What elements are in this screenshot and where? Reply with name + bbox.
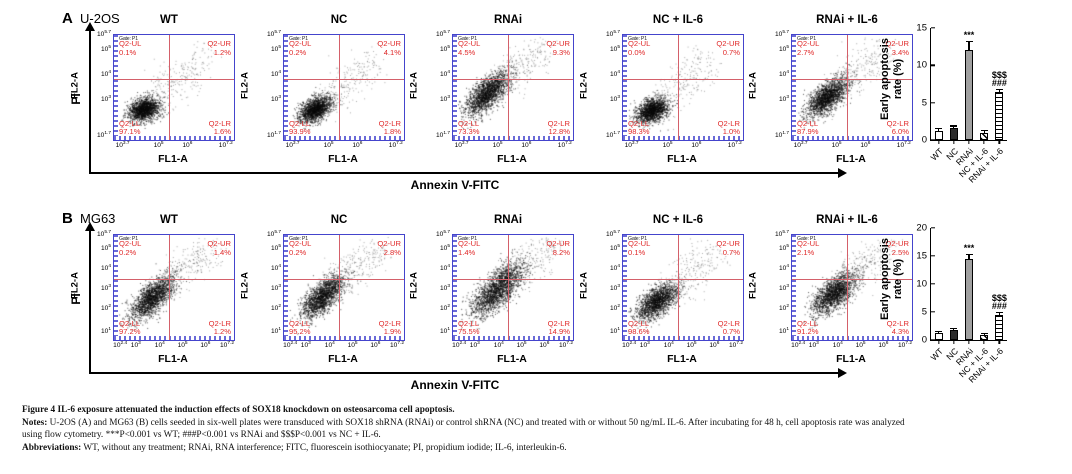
flow-x-tick: 103 — [131, 341, 141, 349]
flow-x-tick: 105 — [663, 141, 673, 149]
caption-abbreviations-line: Abbreviations: WT, without any treatment… — [22, 442, 1054, 455]
flow-plot-nc: NCFL2-AGate: P1Q2-UL0.2%Q2-UR4.1%Q2-LL93… — [235, 14, 409, 174]
quadrant-lr-value: 1.0% — [718, 128, 740, 137]
flow-y-tick: 102 — [243, 303, 281, 311]
bar-rnai-il-6 — [995, 315, 1003, 340]
error-bar — [968, 42, 969, 49]
quadrant-ll: Q2-LL97.2% — [119, 320, 141, 337]
flow-y-tick: 105.7 — [751, 30, 789, 38]
flow-x-tick: 105 — [348, 341, 358, 349]
flow-y-tick: 105 — [751, 244, 789, 252]
quadrant-ll: Q2-LL97.1% — [119, 120, 141, 137]
quadrant-vertical-line — [169, 35, 170, 140]
flow-y-tick: 104 — [582, 70, 620, 78]
bar-chart-y-tick: 20 — [916, 223, 931, 234]
flow-y-tick: 105 — [582, 45, 620, 53]
flow-y-tick: 105 — [243, 45, 281, 53]
flow-y-tick: 103 — [751, 283, 789, 291]
flow-y-tick: 103 — [582, 283, 620, 291]
error-bar-cap — [950, 125, 957, 126]
flow-plot-title: WT — [109, 214, 229, 226]
bar-chart-x-tickmark — [968, 140, 969, 144]
quadrant-horizontal-line — [453, 79, 573, 80]
flow-x-tick: 105 — [832, 141, 842, 149]
bar-nc-il-6 — [980, 133, 988, 140]
flow-y-tick: 101 — [751, 327, 789, 335]
quadrant-horizontal-line — [623, 79, 743, 80]
flow-cytometry-box: Gate: P1Q2-UL0.1%Q2-UR0.7%Q2-LL98.6%Q2-L… — [622, 234, 744, 341]
bar-chart-x-label: WT — [928, 346, 945, 363]
flow-y-tick: 105 — [412, 45, 450, 53]
error-bar — [953, 329, 954, 330]
flow-plot-wt: WTFL2-AGate: P1Q2-UL0.2%Q2-UR1.4%Q2-LL97… — [65, 214, 239, 374]
quadrant-ll: Q2-LL93.9% — [289, 120, 311, 137]
flow-x-tick: 107.2 — [220, 341, 234, 349]
quadrant-ll: Q2-LL75.5% — [458, 320, 480, 337]
flow-y-tick: 101.7 — [751, 131, 789, 139]
quadrant-ul: Q2-UL0.1% — [628, 240, 650, 257]
bar-nc — [950, 128, 958, 140]
quadrant-vertical-line — [678, 35, 679, 140]
flow-x-tick: 107.2 — [389, 141, 403, 149]
quadrant-ur-value: 1.2% — [207, 49, 231, 58]
flow-y-tick: 104 — [751, 70, 789, 78]
quadrant-ul-value: 4.5% — [458, 49, 480, 58]
flow-plot-title: NC — [279, 14, 399, 26]
flow-plot-title: RNAi — [448, 14, 568, 26]
bar-chart-plot-area: 05101520WTNC***RNAiNC + IL-6$$$###RNAi +… — [930, 228, 1007, 341]
figure-4: AU-2OSPIAnnexin V-FITCWTFL2-AGate: P1Q2-… — [0, 0, 1072, 474]
flow-y-tick: 105.7 — [243, 230, 281, 238]
flow-y-tick: 103 — [243, 95, 281, 103]
bar-nc — [950, 330, 958, 340]
quadrant-ur-value: 4.1% — [377, 49, 401, 58]
quadrant-lr-value: 14.9% — [548, 328, 570, 337]
flow-y-tick: 103 — [243, 283, 281, 291]
flow-y-tick: 104 — [243, 264, 281, 272]
caption-notes-line-1: Notes: U-2OS (A) and MG63 (B) cells seed… — [22, 417, 1054, 430]
caption-abbreviations-label: Abbreviations: — [22, 443, 81, 453]
quadrant-vertical-line — [339, 235, 340, 340]
flow-x-tick: 107.2 — [729, 341, 743, 349]
flow-x-tick: 106 — [539, 341, 549, 349]
quadrant-ur-value: 9.3% — [546, 49, 570, 58]
quadrant-ll: Q2-LL98.3% — [628, 120, 650, 137]
flow-x-tick: 105 — [178, 341, 188, 349]
bar-chart-x-tickmark — [953, 140, 954, 144]
flow-y-tick: 102 — [751, 303, 789, 311]
flow-y-tick: 103 — [582, 95, 620, 103]
flow-x-axis-label: FL1-A — [113, 353, 233, 365]
quadrant-ur: Q2-UR0.7% — [716, 40, 740, 57]
error-bar-cap — [935, 128, 942, 129]
flow-x-tick: 102.4 — [113, 341, 127, 349]
quadrant-ur-value: 0.7% — [716, 249, 740, 258]
quadrant-ll-value: 98.3% — [628, 128, 650, 137]
flow-y-tick: 105.7 — [243, 30, 281, 38]
bar-chart: Early apoptosisrate (%)05101520WTNC***RN… — [870, 204, 1070, 404]
flow-plot-area: Gate: P1Q2-UL0.2%Q2-UR4.1%Q2-LL93.9%Q2-L… — [284, 35, 404, 140]
bar-rnai-il-6 — [995, 92, 1003, 140]
flow-x-tick: 104 — [833, 341, 843, 349]
flow-y-tick: 105 — [73, 244, 111, 252]
panel-b: BMG63PIAnnexin V-FITCWTFL2-AGate: P1Q2-U… — [0, 204, 1072, 404]
quadrant-ul-value: 0.2% — [119, 249, 141, 258]
bar-chart: Early apoptosisrate (%)051015WTNC***RNAi… — [870, 4, 1070, 204]
flow-y-tick: 105.7 — [582, 230, 620, 238]
quadrant-ul-value: 2.7% — [797, 49, 819, 58]
bar-chart-x-tickmark — [999, 140, 1000, 144]
bar-chart-y-tick: 15 — [916, 23, 931, 34]
caption-abbreviations-text: WT, without any treatment; RNAi, RNA int… — [81, 443, 566, 453]
quadrant-ur-value: 2.8% — [377, 249, 401, 258]
bar-chart-x-tickmark — [984, 340, 985, 344]
quadrant-ur: Q2-UR8.2% — [546, 240, 570, 257]
flow-cytometry-box: Gate: P1Q2-UL0.2%Q2-UR4.1%Q2-LL93.9%Q2-L… — [283, 34, 405, 141]
bar-chart-y-tick: 10 — [916, 60, 931, 71]
flow-x-tick: 107.2 — [390, 341, 404, 349]
flow-y-tick: 104 — [73, 70, 111, 78]
caption-notes-text-1: U-2OS (A) and MG63 (B) cells seeded in s… — [47, 418, 904, 428]
annexin-axis-label: Annexin V-FITC — [0, 178, 910, 192]
flow-y-tick: 104 — [412, 264, 450, 272]
flow-x-tick: 105 — [154, 141, 164, 149]
quadrant-vertical-line — [508, 35, 509, 140]
quadrant-horizontal-line — [623, 279, 743, 280]
flow-x-tick: 107.2 — [559, 341, 573, 349]
quadrant-ul: Q2-UL0.2% — [289, 240, 311, 257]
error-bar-cap — [935, 331, 942, 332]
flow-plot-area: Gate: P1Q2-UL0.1%Q2-UR1.2%Q2-LL97.1%Q2-L… — [114, 35, 234, 140]
flow-x-tick: 106 — [691, 141, 701, 149]
quadrant-ul: Q2-UL4.5% — [458, 40, 480, 57]
flow-y-tick: 105.7 — [751, 230, 789, 238]
bar-chart-x-tickmark — [938, 140, 939, 144]
flow-plot-title: NC + IL-6 — [618, 14, 738, 26]
flow-y-tick: 103 — [412, 283, 450, 291]
error-bar-cap — [950, 328, 957, 329]
flow-x-tick: 105 — [687, 341, 697, 349]
quadrant-lr: Q2-LR1.0% — [718, 120, 740, 137]
flow-y-tick: 105.7 — [582, 30, 620, 38]
flow-x-tick: 106 — [370, 341, 380, 349]
significance-marker: $$$### — [992, 71, 1007, 87]
flow-x-tick: 102.4 — [452, 341, 466, 349]
quadrant-vertical-line — [339, 35, 340, 140]
quadrant-ll-value: 87.9% — [797, 128, 819, 137]
quadrant-ll: Q2-LL91.2% — [797, 320, 819, 337]
caption-title-line: Figure 4 IL-6 exposure attenuated the in… — [22, 404, 1054, 417]
quadrant-ur: Q2-UR9.3% — [546, 40, 570, 57]
quadrant-ur-value: 8.2% — [546, 249, 570, 258]
bar-chart-x-tickmark — [953, 340, 954, 344]
flow-x-tick: 103 — [809, 341, 819, 349]
flow-y-tick: 103 — [73, 95, 111, 103]
flow-x-tick: 104 — [155, 341, 165, 349]
flow-x-tick: 102.4 — [791, 341, 805, 349]
bar-chart-y-tickmark — [931, 311, 935, 312]
flow-plot-rnai: RNAiFL2-AGate: P1Q2-UL4.5%Q2-UR9.3%Q2-LL… — [404, 14, 578, 174]
quadrant-ur: Q2-UR0.7% — [716, 240, 740, 257]
quadrant-ur-value: 1.4% — [207, 249, 231, 258]
quadrant-ul: Q2-UL2.1% — [797, 240, 819, 257]
caption-notes-line-2: using flow cytometry. ***P<0.001 vs WT; … — [22, 429, 1054, 442]
bar-chart-y-tick: 15 — [916, 251, 931, 262]
flow-x-tick: 102.4 — [283, 341, 297, 349]
quadrant-lr-value: 1.8% — [379, 128, 401, 137]
flow-cytometry-box: Gate: P1Q2-UL0.1%Q2-UR1.2%Q2-LL97.1%Q2-L… — [113, 34, 235, 141]
flow-y-tick: 101 — [412, 327, 450, 335]
bar-chart-x-tickmark — [984, 140, 985, 144]
flow-x-tick: 104 — [325, 341, 335, 349]
error-bar — [999, 90, 1000, 92]
flow-plot-title: RNAi — [448, 214, 568, 226]
quadrant-lr: Q2-LR14.9% — [548, 320, 570, 337]
bar-chart-y-tick: 5 — [922, 97, 931, 108]
quadrant-ll-value: 95.2% — [289, 328, 311, 337]
error-bar — [984, 334, 985, 335]
flow-x-tick: 106 — [521, 141, 531, 149]
error-bar-cap — [966, 254, 973, 255]
flow-x-tick: 106 — [860, 141, 870, 149]
flow-x-tick: 103.7 — [794, 141, 808, 149]
bar-chart-y-axis-label: Early apoptosisrate (%) — [879, 24, 905, 134]
significance-marker: *** — [964, 31, 975, 39]
quadrant-ul-value: 0.1% — [119, 49, 141, 58]
flow-y-tick: 104 — [751, 264, 789, 272]
flow-y-tick: 101 — [73, 327, 111, 335]
flow-y-tick: 104 — [243, 70, 281, 78]
bar-chart-y-tick: 0 — [922, 335, 931, 346]
flow-plot-area: Gate: P1Q2-UL0.2%Q2-UR2.8%Q2-LL95.2%Q2-L… — [284, 235, 404, 340]
error-bar-cap — [966, 41, 973, 42]
flow-plot-nc-il-6: NC + IL-6FL2-AGate: P1Q2-UL0.1%Q2-UR0.7%… — [574, 214, 748, 374]
flow-x-tick: 104 — [664, 341, 674, 349]
bar-rnai — [965, 50, 973, 140]
flow-y-tick: 101.7 — [243, 131, 281, 139]
quadrant-lr-value: 1.6% — [209, 128, 231, 137]
quadrant-horizontal-line — [284, 79, 404, 80]
quadrant-ul-value: 1.4% — [458, 249, 480, 258]
flow-plot-wt: WTFL2-AGate: P1Q2-UL0.1%Q2-UR1.2%Q2-LL97… — [65, 14, 239, 174]
bar-chart-x-tickmark — [938, 340, 939, 344]
flow-y-tick: 102 — [73, 303, 111, 311]
flow-x-axis-label: FL1-A — [283, 353, 403, 365]
flow-y-tick: 105 — [582, 244, 620, 252]
quadrant-lr-value: 1.2% — [209, 328, 231, 337]
flow-y-tick: 105.7 — [73, 230, 111, 238]
flow-cytometry-box: Gate: P1Q2-UL0.0%Q2-UR0.7%Q2-LL98.3%Q2-L… — [622, 34, 744, 141]
flow-x-tick: 103 — [470, 341, 480, 349]
flow-plot-rnai: RNAiFL2-AGate: P1Q2-UL1.4%Q2-UR8.2%Q2-LL… — [404, 214, 578, 374]
bar-chart-y-tickmark — [931, 65, 935, 66]
significance-marker: $$$### — [992, 294, 1007, 310]
flow-plot-nc: NCFL2-AGate: P1Q2-UL0.2%Q2-UR2.8%Q2-LL95… — [235, 214, 409, 374]
quadrant-vertical-line — [508, 235, 509, 340]
quadrant-vertical-line — [169, 235, 170, 340]
quadrant-ul: Q2-UL0.1% — [119, 40, 141, 57]
quadrant-ul: Q2-UL1.4% — [458, 240, 480, 257]
flow-y-tick: 105.7 — [73, 30, 111, 38]
quadrant-lr: Q2-LR12.8% — [548, 120, 570, 137]
flow-cytometry-box: Gate: P1Q2-UL4.5%Q2-UR9.3%Q2-LL73.3%Q2-L… — [452, 34, 574, 141]
bar-chart-x-label: WT — [928, 146, 945, 163]
quadrant-horizontal-line — [453, 279, 573, 280]
quadrant-vertical-line — [847, 35, 848, 140]
flow-y-tick: 101.7 — [73, 131, 111, 139]
quadrant-lr: Q2-LR1.6% — [209, 120, 231, 137]
figure-caption: Figure 4 IL-6 exposure attenuated the in… — [22, 404, 1054, 454]
error-bar — [938, 129, 939, 131]
flow-cytometry-box: Gate: P1Q2-UL0.2%Q2-UR2.8%Q2-LL95.2%Q2-L… — [283, 234, 405, 341]
quadrant-lr: Q2-LR1.8% — [379, 120, 401, 137]
error-bar — [953, 127, 954, 128]
flow-plot-title: WT — [109, 14, 229, 26]
quadrant-ur: Q2-UR1.2% — [207, 40, 231, 57]
error-bar-cap — [996, 89, 1003, 90]
error-bar-cap — [981, 130, 988, 131]
quadrant-ur: Q2-UR4.1% — [377, 40, 401, 57]
flow-y-tick: 105 — [751, 45, 789, 53]
quadrant-ll-value: 73.3% — [458, 128, 480, 137]
bar-chart-y-tick: 0 — [922, 135, 931, 146]
significance-marker: *** — [964, 244, 975, 252]
flow-x-tick: 106 — [182, 141, 192, 149]
flow-y-tick: 104 — [73, 264, 111, 272]
flow-x-tick: 103.7 — [625, 141, 639, 149]
flow-y-tick: 103 — [751, 95, 789, 103]
flow-x-tick: 103.7 — [116, 141, 130, 149]
quadrant-lr-value: 1.9% — [379, 328, 401, 337]
quadrant-ul: Q2-UL0.2% — [119, 240, 141, 257]
flow-x-axis-label: FL1-A — [452, 153, 572, 165]
flow-plot-title: NC — [279, 214, 399, 226]
quadrant-ll: Q2-LL87.9% — [797, 120, 819, 137]
flow-x-tick: 106 — [709, 341, 719, 349]
quadrant-ll-value: 97.2% — [119, 328, 141, 337]
error-bar — [999, 313, 1000, 315]
error-bar — [938, 332, 939, 333]
quadrant-horizontal-line — [114, 79, 234, 80]
flow-x-tick: 103.7 — [286, 141, 300, 149]
caption-notes-label: Notes: — [22, 418, 47, 428]
quadrant-ul: Q2-UL0.0% — [628, 40, 650, 57]
flow-x-tick: 103.7 — [455, 141, 469, 149]
flow-plot-title: NC + IL-6 — [618, 214, 738, 226]
flow-plot-nc-il-6: NC + IL-6FL2-AGate: P1Q2-UL0.0%Q2-UR0.7%… — [574, 14, 748, 174]
flow-x-tick: 107.2 — [728, 141, 742, 149]
caption-title-text: IL-6 exposure attenuated the induction e… — [55, 405, 454, 415]
quadrant-ur: Q2-UR1.4% — [207, 240, 231, 257]
quadrant-ul-value: 2.1% — [797, 249, 819, 258]
flow-x-tick: 107.2 — [219, 141, 233, 149]
flow-y-tick: 104 — [582, 264, 620, 272]
bar-chart-y-tickmark — [931, 102, 935, 103]
quadrant-ul: Q2-UL2.7% — [797, 40, 819, 57]
quadrant-lr: Q2-LR1.9% — [379, 320, 401, 337]
error-bar — [968, 255, 969, 259]
flow-x-tick: 105 — [517, 341, 527, 349]
bar-chart-y-tickmark — [931, 227, 935, 228]
annexin-axis-label: Annexin V-FITC — [0, 378, 910, 392]
bar-wt — [935, 333, 943, 340]
flow-y-tick: 105.7 — [412, 30, 450, 38]
flow-cytometry-box: Gate: P1Q2-UL1.4%Q2-UR8.2%Q2-LL75.5%Q2-L… — [452, 234, 574, 341]
quadrant-horizontal-line — [114, 279, 234, 280]
bar-wt — [935, 131, 943, 140]
flow-x-tick: 102.4 — [622, 341, 636, 349]
bar-chart-y-tickmark — [931, 283, 935, 284]
quadrant-ll-value: 97.1% — [119, 128, 141, 137]
flow-y-tick: 101.7 — [412, 131, 450, 139]
flow-x-tick: 104 — [494, 341, 504, 349]
flow-plot-area: Gate: P1Q2-UL1.4%Q2-UR8.2%Q2-LL75.5%Q2-L… — [453, 235, 573, 340]
bar-rnai — [965, 259, 973, 340]
quadrant-ul-value: 0.1% — [628, 249, 650, 258]
flow-x-tick: 105 — [856, 341, 866, 349]
flow-x-axis-label: FL1-A — [622, 353, 742, 365]
flow-y-tick: 105 — [243, 244, 281, 252]
flow-x-tick: 103 — [301, 341, 311, 349]
quadrant-ul-value: 0.0% — [628, 49, 650, 58]
flow-y-tick: 102 — [412, 303, 450, 311]
quadrant-ur-value: 0.7% — [716, 49, 740, 58]
quadrant-ll: Q2-LL98.6% — [628, 320, 650, 337]
flow-plot-area: Gate: P1Q2-UL0.1%Q2-UR0.7%Q2-LL98.6%Q2-L… — [623, 235, 743, 340]
flow-x-tick: 107.2 — [558, 141, 572, 149]
flow-y-tick: 101 — [582, 327, 620, 335]
flow-y-tick: 105 — [412, 244, 450, 252]
flow-x-axis-label: FL1-A — [283, 153, 403, 165]
bar-chart-x-tickmark — [999, 340, 1000, 344]
error-bar-cap — [996, 312, 1003, 313]
bar-chart-y-axis-label: Early apoptosisrate (%) — [879, 224, 905, 334]
error-bar — [984, 131, 985, 132]
quadrant-ll-value: 91.2% — [797, 328, 819, 337]
flow-plot-area: Gate: P1Q2-UL0.0%Q2-UR0.7%Q2-LL98.3%Q2-L… — [623, 35, 743, 140]
quadrant-lr-value: 12.8% — [548, 128, 570, 137]
flow-y-tick: 103 — [412, 95, 450, 103]
quadrant-vertical-line — [678, 235, 679, 340]
quadrant-ll-value: 98.6% — [628, 328, 650, 337]
bar-chart-x-tickmark — [968, 340, 969, 344]
flow-plot-area: Gate: P1Q2-UL4.5%Q2-UR9.3%Q2-LL73.3%Q2-L… — [453, 35, 573, 140]
quadrant-ll-value: 93.9% — [289, 128, 311, 137]
flow-plot-area: Gate: P1Q2-UL0.2%Q2-UR1.4%Q2-LL97.2%Q2-L… — [114, 235, 234, 340]
flow-y-tick: 102 — [582, 303, 620, 311]
quadrant-lr: Q2-LR0.7% — [718, 320, 740, 337]
caption-figure-number: Figure 4 — [22, 405, 55, 415]
error-bar-cap — [981, 333, 988, 334]
caption-notes-text-2: using flow cytometry. ***P<0.001 vs WT; … — [22, 430, 381, 440]
quadrant-ul-value: 0.2% — [289, 249, 311, 258]
flow-y-tick: 101 — [243, 327, 281, 335]
quadrant-ll: Q2-LL95.2% — [289, 320, 311, 337]
flow-y-tick: 105.7 — [412, 230, 450, 238]
quadrant-lr: Q2-LR1.2% — [209, 320, 231, 337]
flow-x-tick: 105 — [324, 141, 334, 149]
quadrant-ul: Q2-UL0.2% — [289, 40, 311, 57]
flow-x-axis-label: FL1-A — [452, 353, 572, 365]
flow-y-tick: 105 — [73, 45, 111, 53]
quadrant-ll-value: 75.5% — [458, 328, 480, 337]
bar-chart-y-tick: 10 — [916, 279, 931, 290]
bar-chart-y-tickmark — [931, 255, 935, 256]
flow-y-tick: 101.7 — [582, 131, 620, 139]
quadrant-lr-value: 0.7% — [718, 328, 740, 337]
quadrant-vertical-line — [847, 235, 848, 340]
flow-x-tick: 105 — [493, 141, 503, 149]
